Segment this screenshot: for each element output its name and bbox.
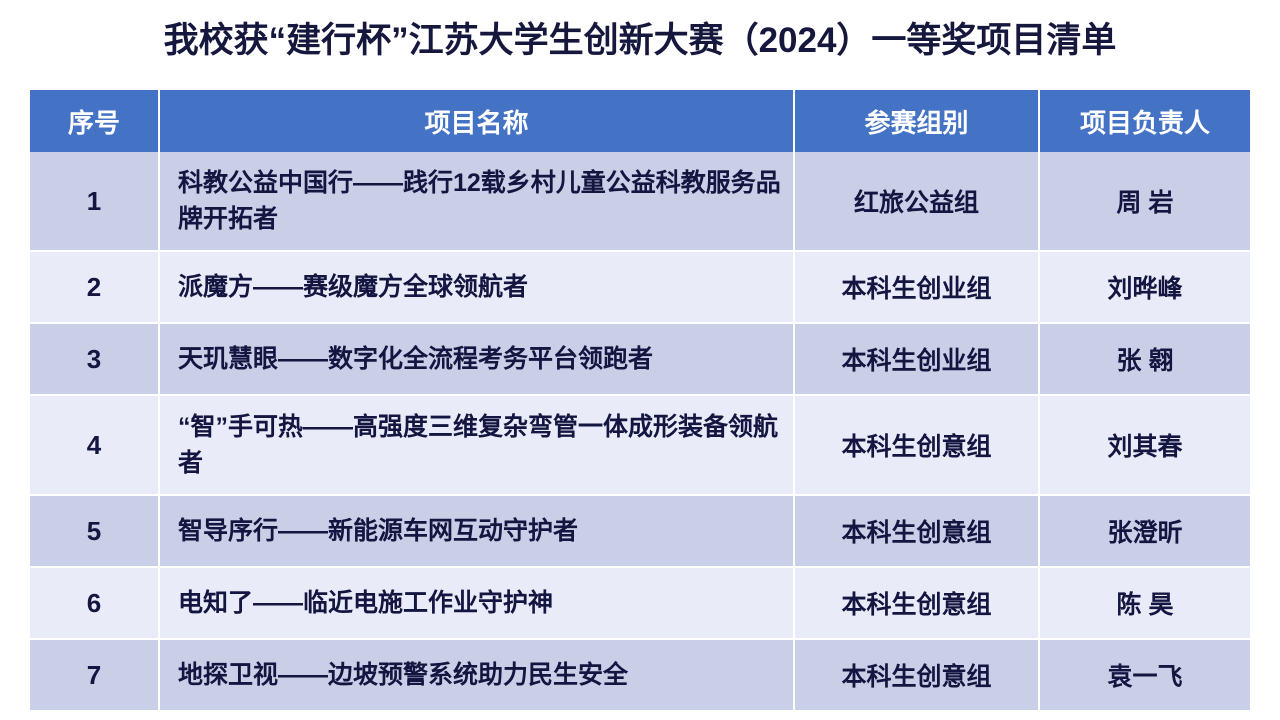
row-project-name: 地探卫视——边坡预警系统助力民生安全 xyxy=(160,640,795,712)
row-index-cell: 6 xyxy=(30,568,160,640)
row-leader-cell: 陈 昊 xyxy=(1040,568,1250,640)
row-project-name: 科教公益中国行——践行12载乡村儿童公益科教服务品牌开拓者 xyxy=(160,152,795,252)
row-leader-cell: 袁一飞 xyxy=(1040,640,1250,712)
table-header-row: 序号 项目名称 参赛组别 项目负责人 xyxy=(30,90,1250,152)
table-header: 序号 项目名称 参赛组别 项目负责人 xyxy=(30,90,1250,152)
table-row: 4“智”手可热——高强度三维复杂弯管一体成形装备领航者本科生创意组刘其春 xyxy=(30,396,1250,496)
row-leader-cell: 刘晔峰 xyxy=(1040,252,1250,324)
row-project-name: 派魔方——赛级魔方全球领航者 xyxy=(160,252,795,324)
row-index-cell: 3 xyxy=(30,324,160,396)
row-index-cell: 5 xyxy=(30,496,160,568)
row-group-cell: 本科生创意组 xyxy=(795,396,1040,496)
table-row: 5智导序行——新能源车网互动守护者本科生创意组张澄昕 xyxy=(30,496,1250,568)
row-index-cell: 2 xyxy=(30,252,160,324)
row-project-name: 智导序行——新能源车网互动守护者 xyxy=(160,496,795,568)
row-group-cell: 本科生创业组 xyxy=(795,324,1040,396)
row-index-cell: 7 xyxy=(30,640,160,712)
row-group-cell: 本科生创意组 xyxy=(795,496,1040,568)
table-row: 2派魔方——赛级魔方全球领航者本科生创业组刘晔峰 xyxy=(30,252,1250,324)
page-title: 我校获“建行杯”江苏大学生创新大赛（2024）一等奖项目清单 xyxy=(0,18,1280,64)
row-group-cell: 红旅公益组 xyxy=(795,152,1040,252)
column-header-group: 参赛组别 xyxy=(795,90,1040,152)
row-index-cell: 4 xyxy=(30,396,160,496)
table-row: 7地探卫视——边坡预警系统助力民生安全本科生创意组袁一飞 xyxy=(30,640,1250,712)
row-index-cell: 1 xyxy=(30,152,160,252)
row-leader-cell: 张 翱 xyxy=(1040,324,1250,396)
table-row: 3天玑慧眼——数字化全流程考务平台领跑者本科生创业组张 翱 xyxy=(30,324,1250,396)
row-leader-cell: 张澄昕 xyxy=(1040,496,1250,568)
column-header-name: 项目名称 xyxy=(160,90,795,152)
row-project-name: “智”手可热——高强度三维复杂弯管一体成形装备领航者 xyxy=(160,396,795,496)
row-leader-cell: 周 岩 xyxy=(1040,152,1250,252)
table-row: 1科教公益中国行——践行12载乡村儿童公益科教服务品牌开拓者红旅公益组周 岩 xyxy=(30,152,1250,252)
row-project-name: 电知了——临近电施工作业守护神 xyxy=(160,568,795,640)
column-header-leader: 项目负责人 xyxy=(1040,90,1250,152)
table-body: 1科教公益中国行——践行12载乡村儿童公益科教服务品牌开拓者红旅公益组周 岩2派… xyxy=(30,152,1250,712)
award-list-table: 序号 项目名称 参赛组别 项目负责人 1科教公益中国行——践行12载乡村儿童公益… xyxy=(30,90,1250,712)
row-project-name: 天玑慧眼——数字化全流程考务平台领跑者 xyxy=(160,324,795,396)
row-group-cell: 本科生创业组 xyxy=(795,252,1040,324)
row-group-cell: 本科生创意组 xyxy=(795,568,1040,640)
row-group-cell: 本科生创意组 xyxy=(795,640,1040,712)
table-row: 6电知了——临近电施工作业守护神本科生创意组陈 昊 xyxy=(30,568,1250,640)
slide-canvas: 我校获“建行杯”江苏大学生创新大赛（2024）一等奖项目清单 序号 项目名称 参… xyxy=(0,0,1280,720)
row-leader-cell: 刘其春 xyxy=(1040,396,1250,496)
column-header-index: 序号 xyxy=(30,90,160,152)
